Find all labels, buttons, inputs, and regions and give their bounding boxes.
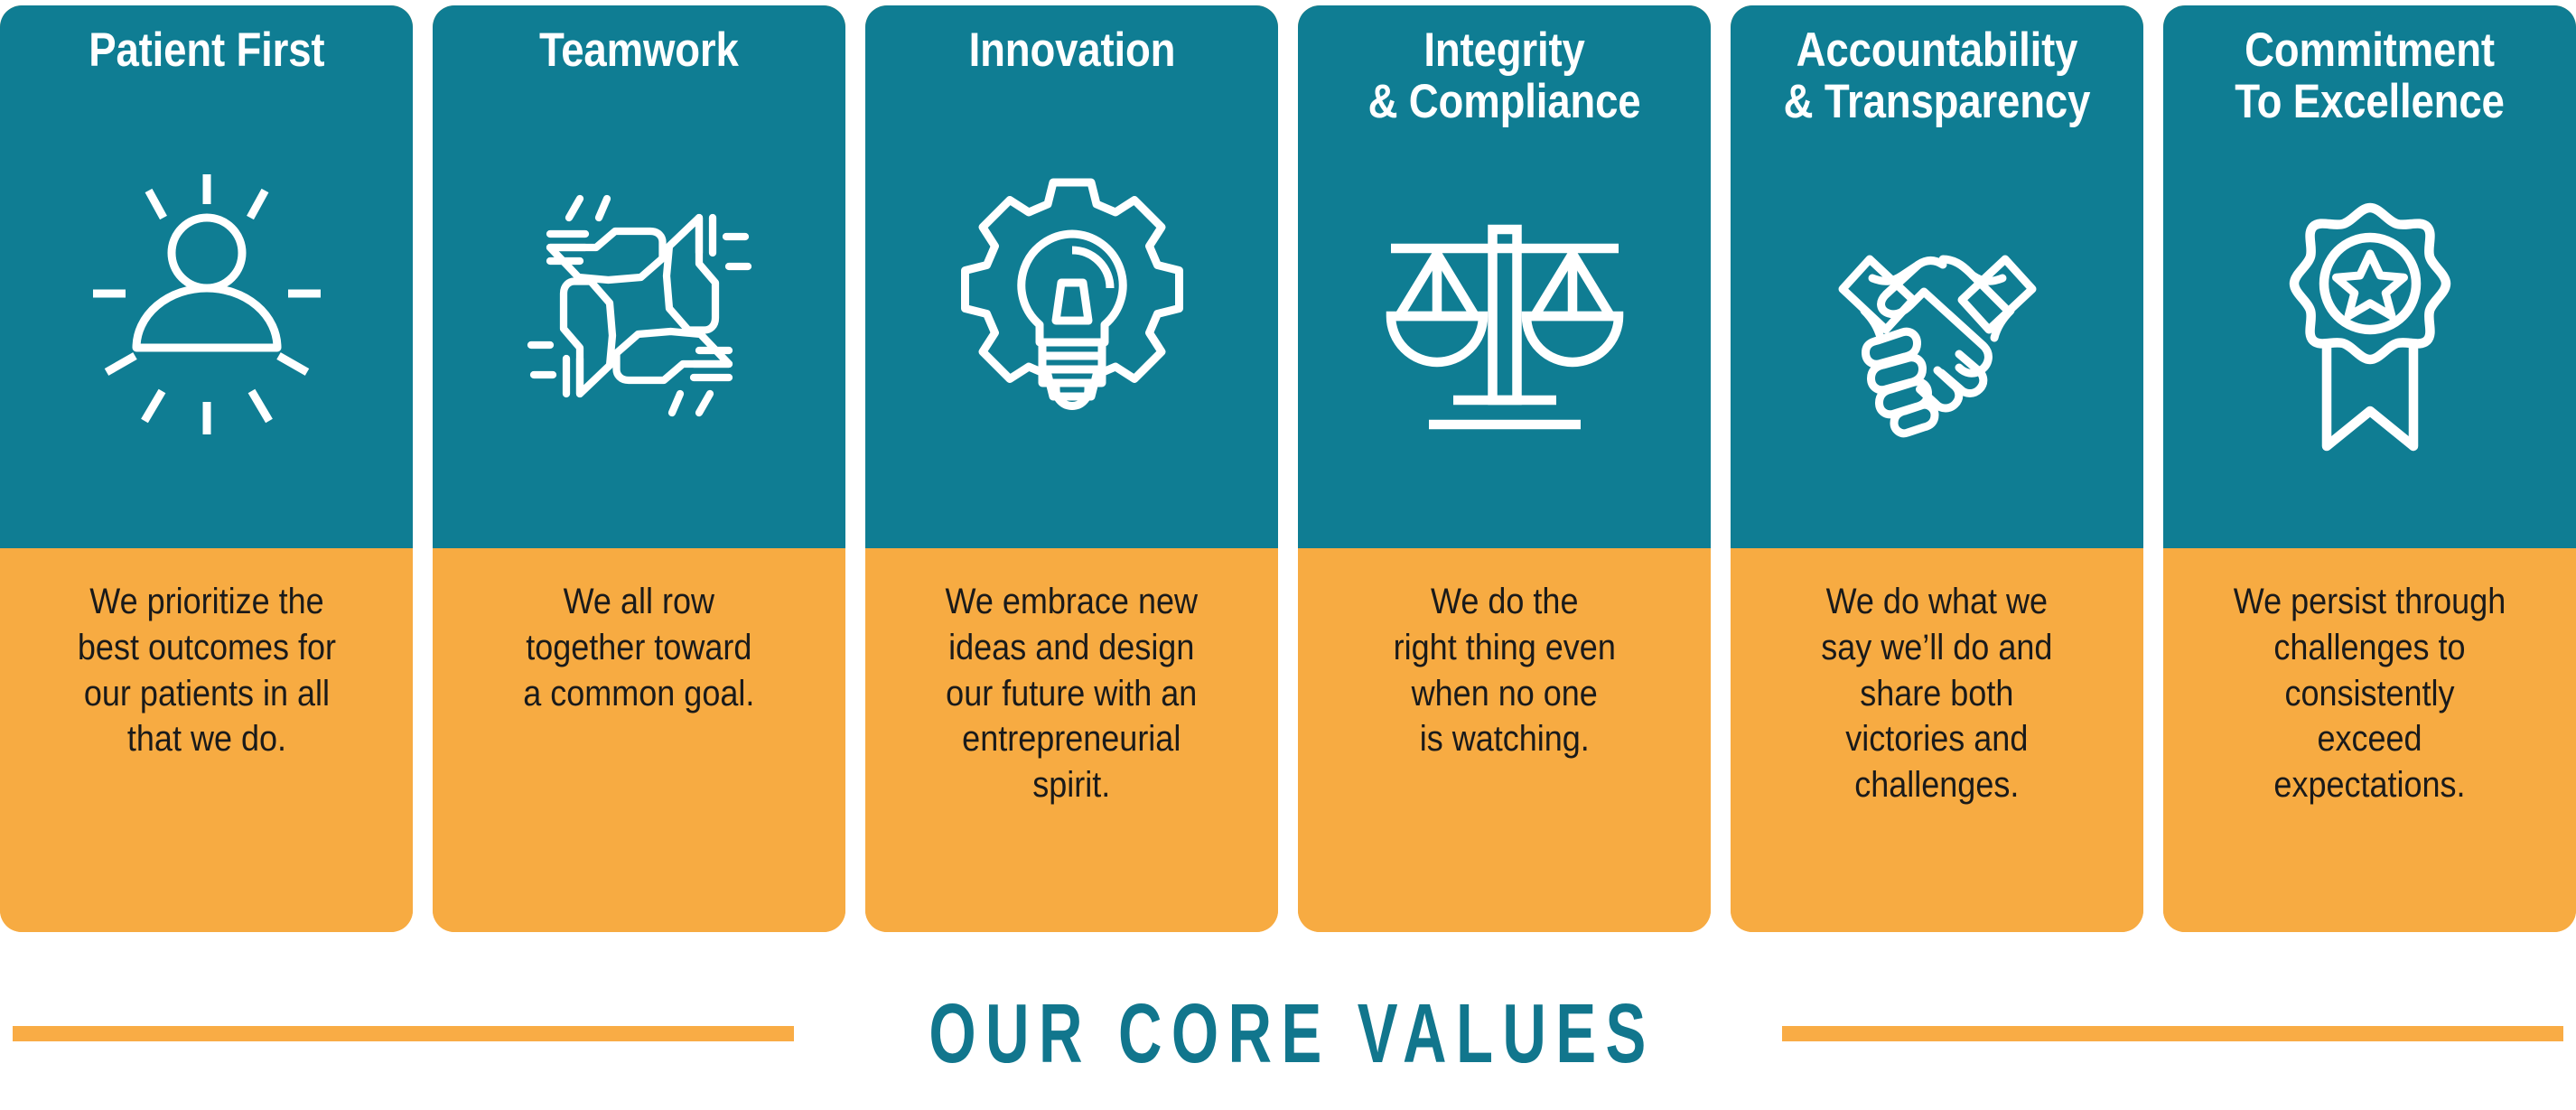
card-description: We prioritize the best outcomes for our … <box>77 579 335 762</box>
card-top-innovation: Innovation <box>865 5 1278 548</box>
card-description: We do the right thing even when no one i… <box>1393 579 1615 762</box>
card-body-teamwork: We all row together toward a common goal… <box>433 548 845 932</box>
banner-rule-left <box>13 1026 794 1041</box>
card-description: We embrace new ideas and design our futu… <box>946 579 1198 808</box>
balance-scales-icon <box>1298 127 1711 548</box>
card-body-integrity-compliance: We do the right thing even when no one i… <box>1298 548 1711 932</box>
card-title: Patient First <box>84 25 329 77</box>
card-top-patient-first: Patient First <box>0 5 413 548</box>
card-title: Commitment To Excellence <box>2230 25 2509 127</box>
value-card-commitment-to-excellence: Commitment To Excellence We persis <box>2163 5 2576 932</box>
banner: OUR CORE VALUES <box>0 974 2576 1093</box>
lightbulb-gear-icon <box>865 77 1278 548</box>
interlocking-hands-icon <box>433 77 845 548</box>
card-top-commitment-to-excellence: Commitment To Excellence <box>2163 5 2576 548</box>
card-top-teamwork: Teamwork <box>433 5 845 548</box>
core-values-infographic: Patient First <box>0 0 2576 1110</box>
card-description: We persist through challenges to consist… <box>2234 579 2506 808</box>
value-card-teamwork: Teamwork <box>433 5 845 932</box>
card-title: Innovation <box>964 25 1180 77</box>
banner-rule-right <box>1782 1026 2563 1041</box>
card-description: We do what we say we’ll do and share bot… <box>1821 579 2052 808</box>
card-body-accountability-transparency: We do what we say we’ll do and share bot… <box>1731 548 2143 932</box>
card-body-commitment-to-excellence: We persist through challenges to consist… <box>2163 548 2576 932</box>
card-title: Accountability & Transparency <box>1779 25 2095 127</box>
value-cards-row: Patient First <box>0 5 2576 932</box>
card-title: Integrity & Compliance <box>1363 25 1645 127</box>
radiating-person-icon <box>0 77 413 548</box>
value-card-integrity-compliance: Integrity & Compliance <box>1298 5 1711 932</box>
card-description: We all row together toward a common goal… <box>523 579 754 716</box>
value-card-innovation: Innovation <box>865 5 1278 932</box>
award-badge-ribbon-icon <box>2163 127 2576 548</box>
card-body-innovation: We embrace new ideas and design our futu… <box>865 548 1278 932</box>
value-card-accountability-transparency: Accountability & Transparency <box>1731 5 2143 932</box>
handshake-icon <box>1731 127 2143 548</box>
card-title: Teamwork <box>535 25 743 77</box>
banner-title: OUR CORE VALUES <box>893 992 1684 1075</box>
card-top-accountability-transparency: Accountability & Transparency <box>1731 5 2143 548</box>
value-card-patient-first: Patient First <box>0 5 413 932</box>
card-body-patient-first: We prioritize the best outcomes for our … <box>0 548 413 932</box>
card-top-integrity-compliance: Integrity & Compliance <box>1298 5 1711 548</box>
